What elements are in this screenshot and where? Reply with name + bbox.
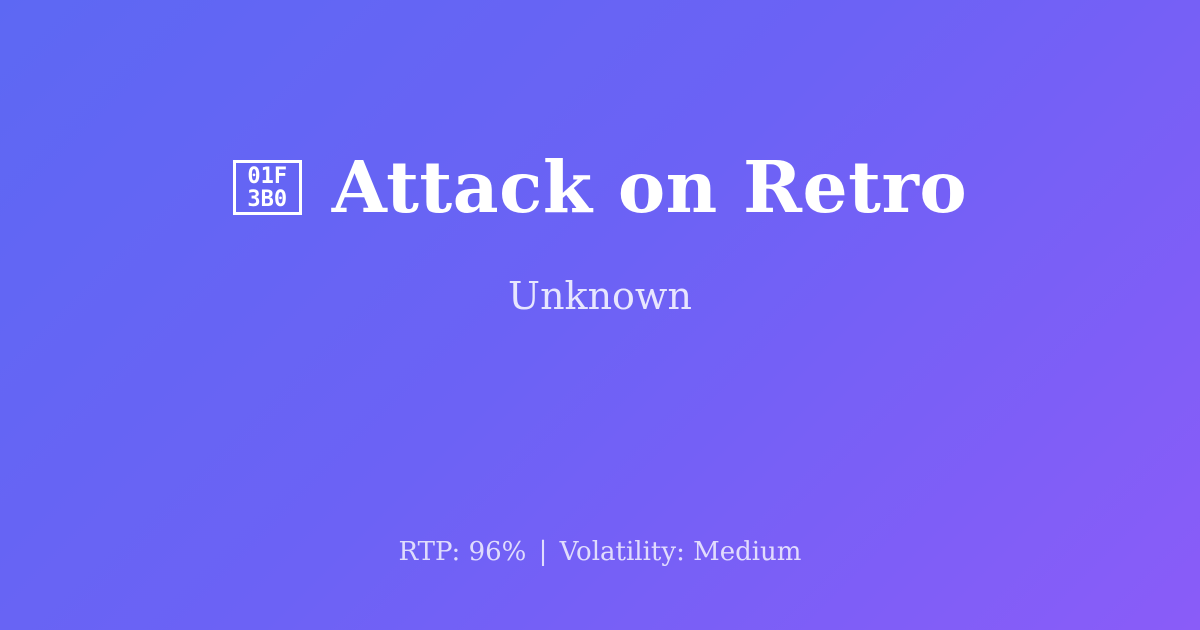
volatility-value: Medium [693, 537, 801, 567]
title-row: 01F 3B0 Attack on Retro [233, 150, 968, 225]
game-provider-subtitle: Unknown [508, 274, 692, 320]
page-title: Attack on Retro [332, 150, 968, 225]
rtp-value: 96% [469, 537, 527, 567]
game-stats-line: RTP: 96% | Volatility: Medium [0, 537, 1200, 568]
hero-section: 01F 3B0 Attack on Retro Unknown [0, 0, 1200, 470]
slot-machine-icon: 01F 3B0 [233, 160, 302, 215]
volatility-label: Volatility: [560, 537, 685, 567]
rtp-label: RTP: [399, 537, 461, 567]
tofu-codepoint-top: 01F [247, 165, 287, 188]
og-card: 01F 3B0 Attack on Retro Unknown RTP: 96%… [0, 0, 1200, 630]
meta-separator: | [535, 537, 552, 567]
tofu-codepoint-bottom: 3B0 [247, 188, 287, 211]
